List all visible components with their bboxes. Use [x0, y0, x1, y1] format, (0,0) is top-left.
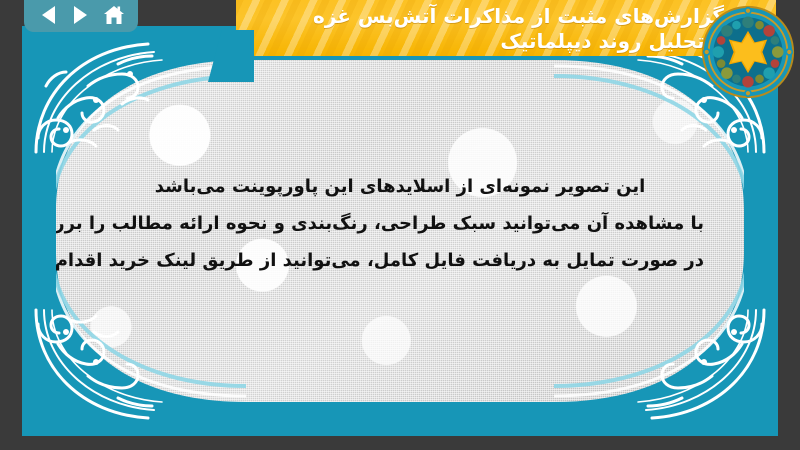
slide-navigation-bar[interactable] [24, 0, 138, 32]
previous-slide-button[interactable] [35, 3, 61, 27]
persian-medallion-icon [700, 4, 796, 100]
home-icon [103, 5, 125, 25]
slide-subtitle-banner: گزارش‌های مثبت از مذاکرات آتش‌بس غزه و ت… [236, 0, 776, 56]
body-line-3: در صورت تمایل به دریافت فایل کامل، می‌تو… [96, 242, 704, 279]
slide-viewer: این تصویر نمونه‌ای از اسلایدهای این پاور… [0, 0, 800, 450]
slide-canvas: این تصویر نمونه‌ای از اسلایدهای این پاور… [22, 26, 778, 436]
next-slide-button[interactable] [68, 3, 94, 27]
banner-line-2: و تحلیل روند دیپلماتیک [500, 29, 724, 54]
triangle-left-icon [42, 6, 55, 24]
banner-line-1: گزارش‌های مثبت از مذاکرات آتش‌بس غزه [313, 4, 724, 29]
slide-body-text: این تصویر نمونه‌ای از اسلایدهای این پاور… [96, 168, 704, 279]
slide-content-panel: این تصویر نمونه‌ای از اسلایدهای این پاور… [56, 60, 744, 402]
home-button[interactable] [101, 3, 127, 27]
body-line-2: با مشاهده آن می‌توانید سبک طراحی، رنگ‌بن… [96, 205, 704, 242]
body-line-1: این تصویر نمونه‌ای از اسلایدهای این پاور… [96, 168, 704, 205]
triangle-right-icon [74, 6, 87, 24]
